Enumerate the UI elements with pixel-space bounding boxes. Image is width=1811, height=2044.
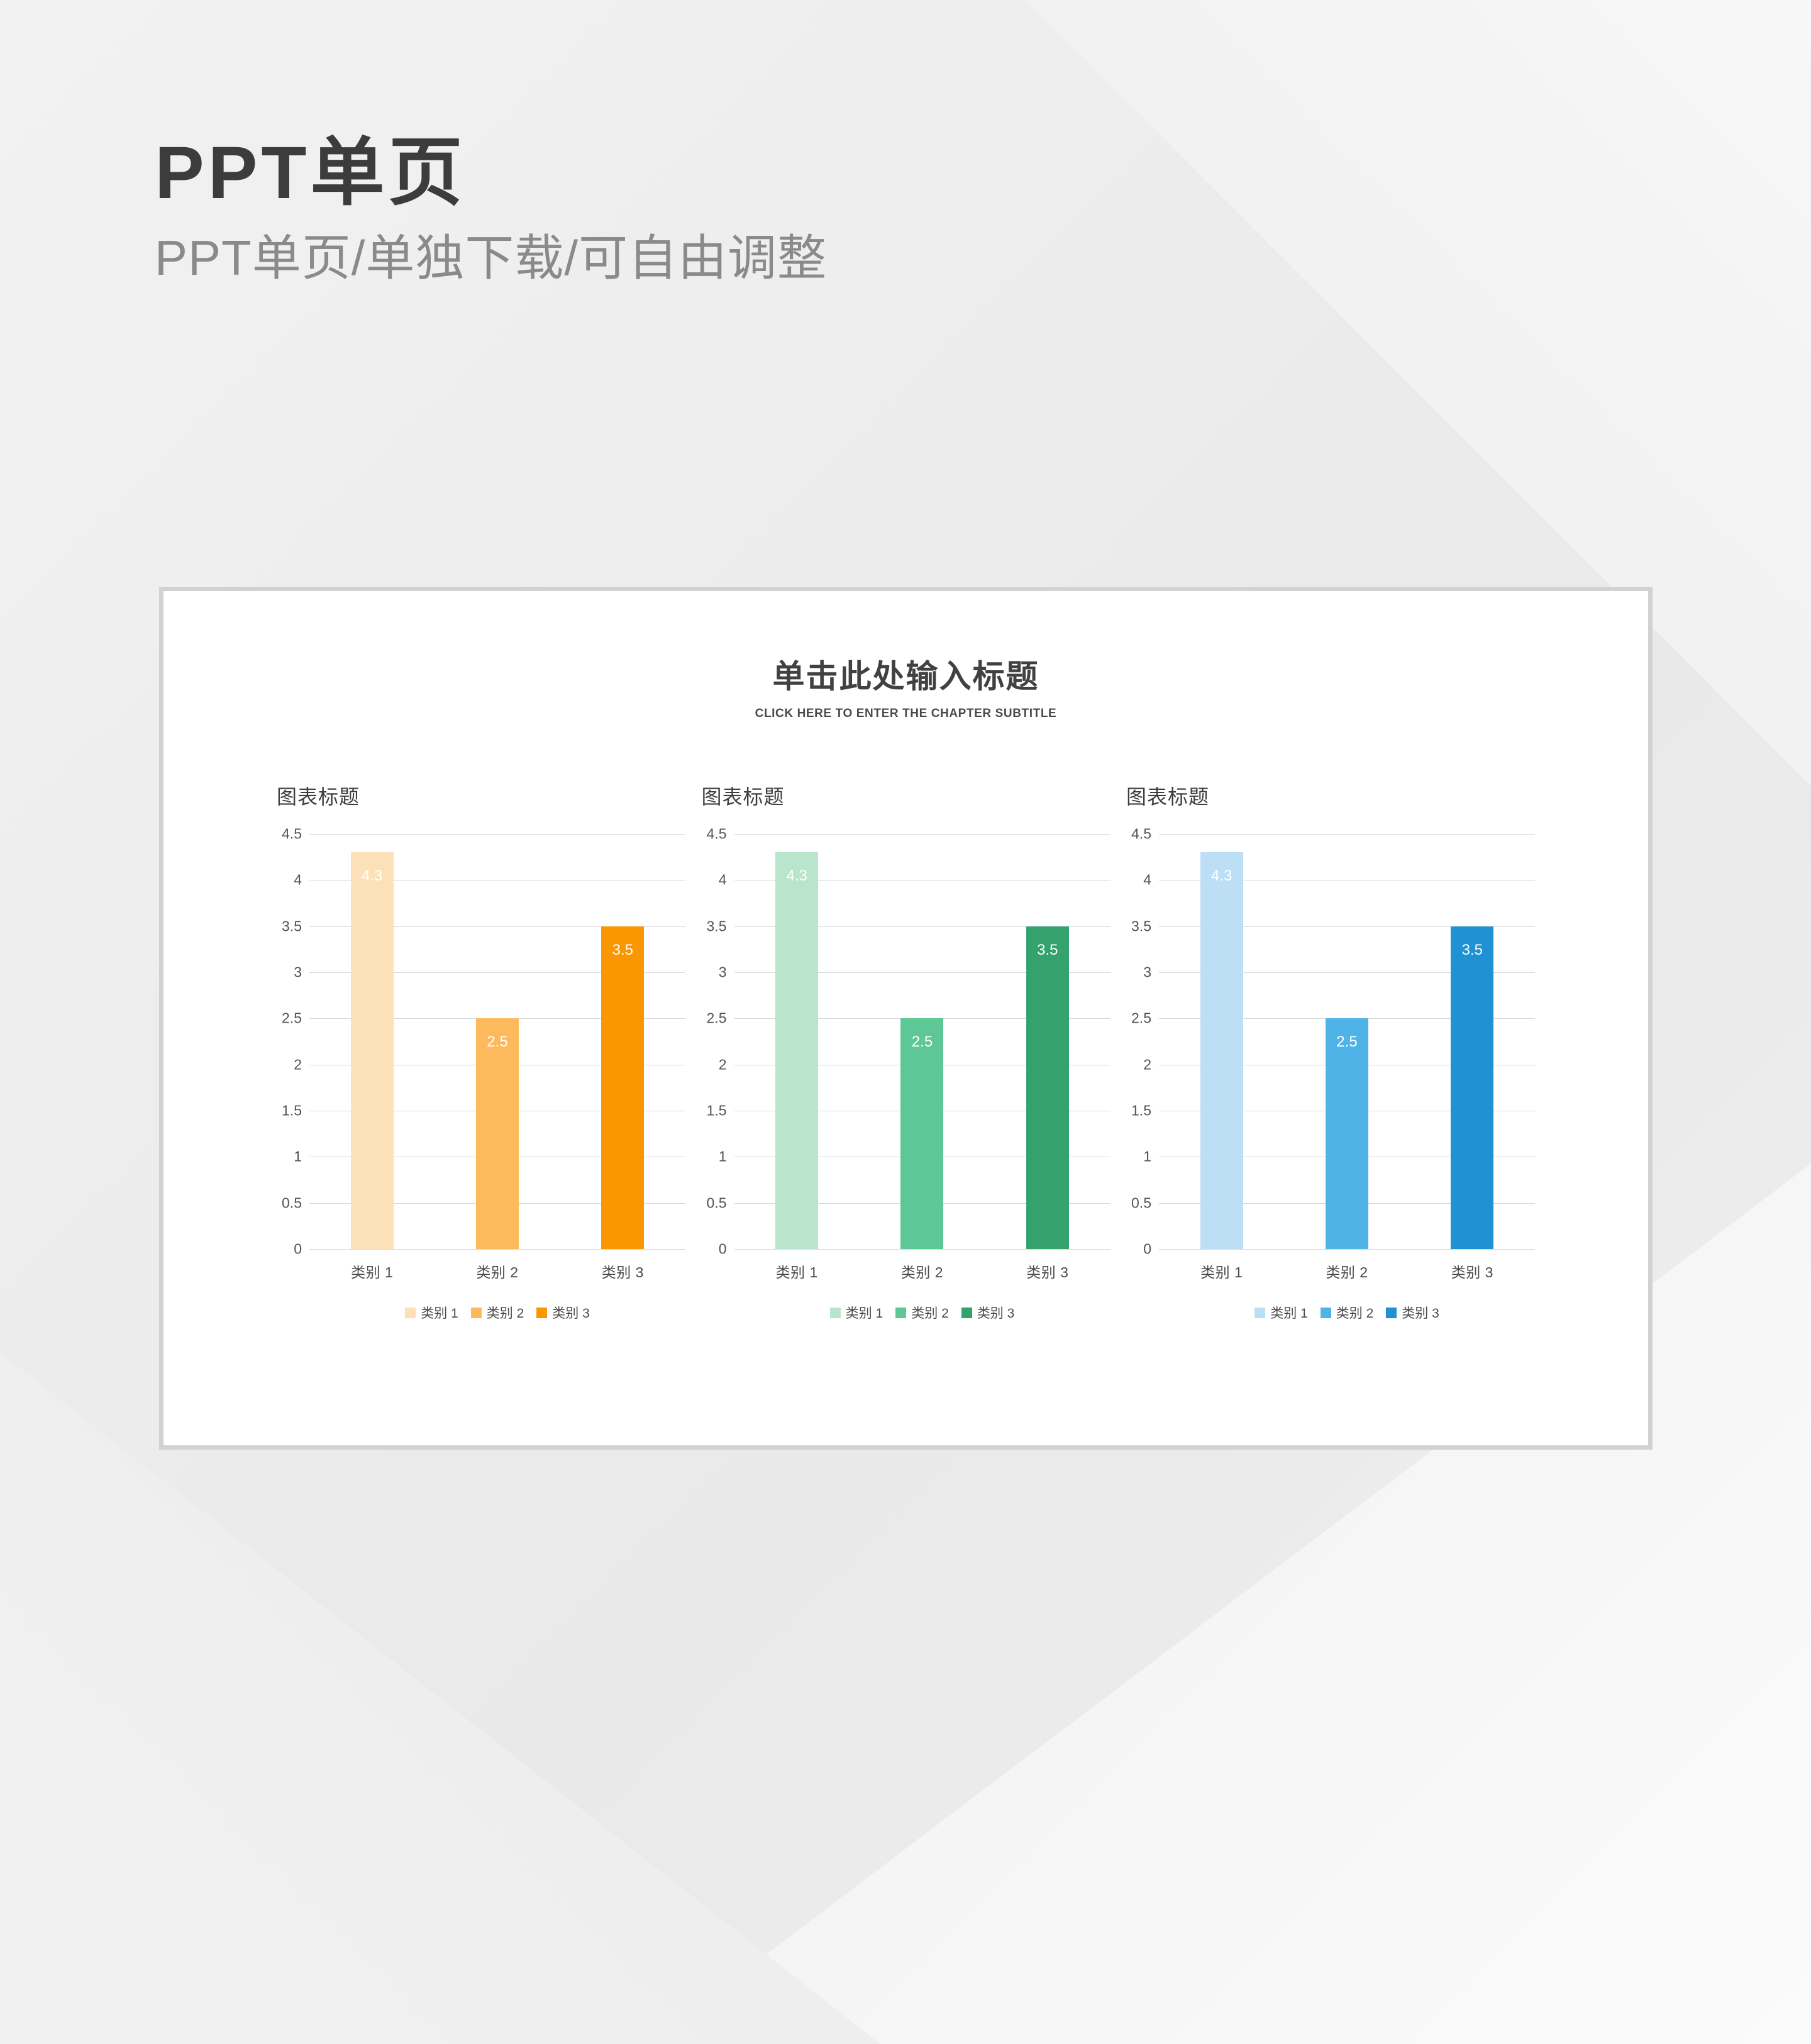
chart-block-3: 图表标题4.543.532.521.510.504.32.53.5类别 1类别 … xyxy=(1120,781,1535,1322)
legend-swatch-icon xyxy=(471,1308,482,1318)
bar-slot: 4.3 xyxy=(734,834,860,1249)
bar-value-label: 2.5 xyxy=(900,1033,943,1051)
legend-item[interactable]: 类别 1 xyxy=(830,1303,883,1322)
y-axis-tick-label: 0.5 xyxy=(282,1194,302,1211)
bar-value-label: 3.5 xyxy=(601,941,644,959)
y-axis: 4.543.532.521.510.50 xyxy=(270,834,309,1249)
y-axis-tick-label: 4 xyxy=(1143,872,1151,889)
y-axis-tick-label: 1 xyxy=(1143,1148,1151,1165)
x-axis-tick-label: 类别 3 xyxy=(985,1249,1110,1282)
x-axis-tick-label: 类别 1 xyxy=(309,1249,435,1282)
plot-wrapper: 4.543.532.521.510.504.32.53.5 xyxy=(1120,834,1535,1249)
legend-label: 类别 1 xyxy=(1270,1303,1308,1322)
x-axis-tick-label: 类别 1 xyxy=(1159,1249,1284,1282)
bar[interactable]: 3.5 xyxy=(1451,926,1493,1249)
y-axis-tick-label: 3.5 xyxy=(282,918,302,935)
y-axis-tick-label: 3 xyxy=(719,964,727,981)
chart-legend: 类别 1类别 2类别 3 xyxy=(309,1303,685,1322)
y-axis-tick-label: 0.5 xyxy=(1131,1194,1151,1211)
bars-container: 4.32.53.5 xyxy=(734,834,1110,1249)
chart-title: 图表标题 xyxy=(277,781,685,810)
y-axis-tick-label: 2.5 xyxy=(1131,1010,1151,1027)
bar[interactable]: 4.3 xyxy=(775,852,818,1249)
legend-item[interactable]: 类别 3 xyxy=(961,1303,1015,1322)
x-axis: 类别 1类别 2类别 3 xyxy=(734,1249,1110,1282)
y-axis-tick-label: 1.5 xyxy=(707,1103,727,1119)
y-axis-tick-label: 0 xyxy=(1143,1241,1151,1258)
bar-slot: 3.5 xyxy=(985,834,1110,1249)
legend-swatch-icon xyxy=(895,1308,906,1318)
legend-item[interactable]: 类别 2 xyxy=(1321,1303,1374,1322)
y-axis-tick-label: 2 xyxy=(1143,1056,1151,1073)
x-axis-tick-label: 类别 2 xyxy=(860,1249,985,1282)
bar[interactable]: 4.3 xyxy=(1200,852,1243,1249)
legend-label: 类别 2 xyxy=(487,1303,524,1322)
bar-slot: 2.5 xyxy=(435,834,560,1249)
legend-swatch-icon xyxy=(536,1308,547,1318)
chart-legend: 类别 1类别 2类别 3 xyxy=(1159,1303,1535,1322)
legend-swatch-icon xyxy=(1321,1308,1331,1318)
legend-item[interactable]: 类别 2 xyxy=(471,1303,524,1322)
y-axis-tick-label: 4 xyxy=(294,872,302,889)
legend-label: 类别 1 xyxy=(846,1303,883,1322)
y-axis-tick-label: 1.5 xyxy=(1131,1103,1151,1119)
legend-item[interactable]: 类别 3 xyxy=(1386,1303,1439,1322)
y-axis-tick-label: 3 xyxy=(294,964,302,981)
y-axis-tick-label: 2 xyxy=(294,1056,302,1073)
plot-area: 4.32.53.5 xyxy=(734,834,1110,1249)
x-axis-tick-label: 类别 2 xyxy=(435,1249,560,1282)
bar-slot: 4.3 xyxy=(309,834,435,1249)
chart-legend: 类别 1类别 2类别 3 xyxy=(734,1303,1110,1322)
x-axis-tick-label: 类别 1 xyxy=(734,1249,860,1282)
y-axis-tick-label: 1.5 xyxy=(282,1103,302,1119)
bars-container: 4.32.53.5 xyxy=(309,834,685,1249)
plot-wrapper: 4.543.532.521.510.504.32.53.5 xyxy=(695,834,1110,1249)
y-axis-tick-label: 4.5 xyxy=(1131,826,1151,843)
bar-slot: 4.3 xyxy=(1159,834,1284,1249)
y-axis-tick-label: 1 xyxy=(294,1148,302,1165)
legend-item[interactable]: 类别 1 xyxy=(405,1303,458,1322)
legend-label: 类别 2 xyxy=(911,1303,949,1322)
x-axis-tick-label: 类别 3 xyxy=(560,1249,685,1282)
slide-title: 单击此处输入标题 xyxy=(163,650,1648,697)
bar[interactable]: 2.5 xyxy=(900,1018,943,1249)
y-axis-tick-label: 4.5 xyxy=(282,826,302,843)
bar-slot: 2.5 xyxy=(860,834,985,1249)
legend-label: 类别 1 xyxy=(421,1303,458,1322)
bar-value-label: 3.5 xyxy=(1451,941,1493,959)
slide-header: 单击此处输入标题 CLICK HERE TO ENTER THE CHAPTER… xyxy=(163,650,1648,721)
y-axis-tick-label: 0 xyxy=(719,1241,727,1258)
bar[interactable]: 3.5 xyxy=(1026,926,1069,1249)
y-axis-tick-label: 1 xyxy=(719,1148,727,1165)
bar-value-label: 2.5 xyxy=(1326,1033,1368,1051)
x-axis-tick-label: 类别 2 xyxy=(1284,1249,1409,1282)
bar-value-label: 3.5 xyxy=(1026,941,1069,959)
y-axis-tick-label: 2.5 xyxy=(707,1010,727,1027)
plot-area: 4.32.53.5 xyxy=(1159,834,1535,1249)
bar-value-label: 4.3 xyxy=(351,867,394,885)
legend-item[interactable]: 类别 1 xyxy=(1254,1303,1308,1322)
y-axis-tick-label: 2 xyxy=(719,1056,727,1073)
y-axis-tick-label: 2.5 xyxy=(282,1010,302,1027)
gridline xyxy=(309,1249,685,1250)
page-header: PPT单页 PPT单页/单独下载/可自由调整 xyxy=(155,131,827,289)
page-subtitle: PPT单页/单独下载/可自由调整 xyxy=(155,228,827,289)
bar-value-label: 2.5 xyxy=(476,1033,519,1051)
legend-label: 类别 3 xyxy=(552,1303,590,1322)
y-axis-tick-label: 4.5 xyxy=(707,826,727,843)
legend-item[interactable]: 类别 2 xyxy=(895,1303,949,1322)
y-axis-tick-label: 3 xyxy=(1143,964,1151,981)
bar-slot: 3.5 xyxy=(1410,834,1535,1249)
legend-swatch-icon xyxy=(961,1308,972,1318)
legend-swatch-icon xyxy=(1386,1308,1397,1318)
chart-title: 图表标题 xyxy=(702,781,1110,810)
y-axis-tick-label: 0.5 xyxy=(707,1194,727,1211)
y-axis-tick-label: 0 xyxy=(294,1241,302,1258)
bars-container: 4.32.53.5 xyxy=(1159,834,1535,1249)
slide-card: 单击此处输入标题 CLICK HERE TO ENTER THE CHAPTER… xyxy=(159,587,1653,1450)
gridline xyxy=(734,1249,1110,1250)
y-axis-tick-label: 3.5 xyxy=(1131,918,1151,935)
legend-label: 类别 3 xyxy=(977,1303,1015,1322)
bar[interactable]: 4.3 xyxy=(351,852,394,1249)
slide-subtitle: CLICK HERE TO ENTER THE CHAPTER SUBTITLE xyxy=(163,707,1648,721)
x-axis-tick-label: 类别 3 xyxy=(1410,1249,1535,1282)
plot-area: 4.32.53.5 xyxy=(309,834,685,1249)
bar-slot: 3.5 xyxy=(560,834,685,1249)
x-axis: 类别 1类别 2类别 3 xyxy=(1159,1249,1535,1282)
bar[interactable]: 2.5 xyxy=(476,1018,519,1249)
bar[interactable]: 3.5 xyxy=(601,926,644,1249)
chart-block-1: 图表标题4.543.532.521.510.504.32.53.5类别 1类别 … xyxy=(270,781,685,1322)
bar-slot: 2.5 xyxy=(1284,834,1409,1249)
gridline xyxy=(1159,1249,1535,1250)
legend-swatch-icon xyxy=(405,1308,416,1318)
charts-row: 图表标题4.543.532.521.510.504.32.53.5类别 1类别 … xyxy=(163,781,1648,1322)
bar-value-label: 4.3 xyxy=(1200,867,1243,885)
y-axis-tick-label: 3.5 xyxy=(707,918,727,935)
y-axis: 4.543.532.521.510.50 xyxy=(1120,834,1159,1249)
legend-swatch-icon xyxy=(830,1308,841,1318)
page-title: PPT单页 xyxy=(155,131,827,216)
bar[interactable]: 2.5 xyxy=(1326,1018,1368,1249)
legend-item[interactable]: 类别 3 xyxy=(536,1303,590,1322)
y-axis-tick-label: 4 xyxy=(719,872,727,889)
y-axis: 4.543.532.521.510.50 xyxy=(695,834,734,1249)
plot-wrapper: 4.543.532.521.510.504.32.53.5 xyxy=(270,834,685,1249)
legend-label: 类别 3 xyxy=(1402,1303,1439,1322)
x-axis: 类别 1类别 2类别 3 xyxy=(309,1249,685,1282)
legend-label: 类别 2 xyxy=(1336,1303,1374,1322)
chart-block-2: 图表标题4.543.532.521.510.504.32.53.5类别 1类别 … xyxy=(695,781,1110,1322)
legend-swatch-icon xyxy=(1254,1308,1265,1318)
bar-value-label: 4.3 xyxy=(775,867,818,885)
chart-title: 图表标题 xyxy=(1126,781,1535,810)
